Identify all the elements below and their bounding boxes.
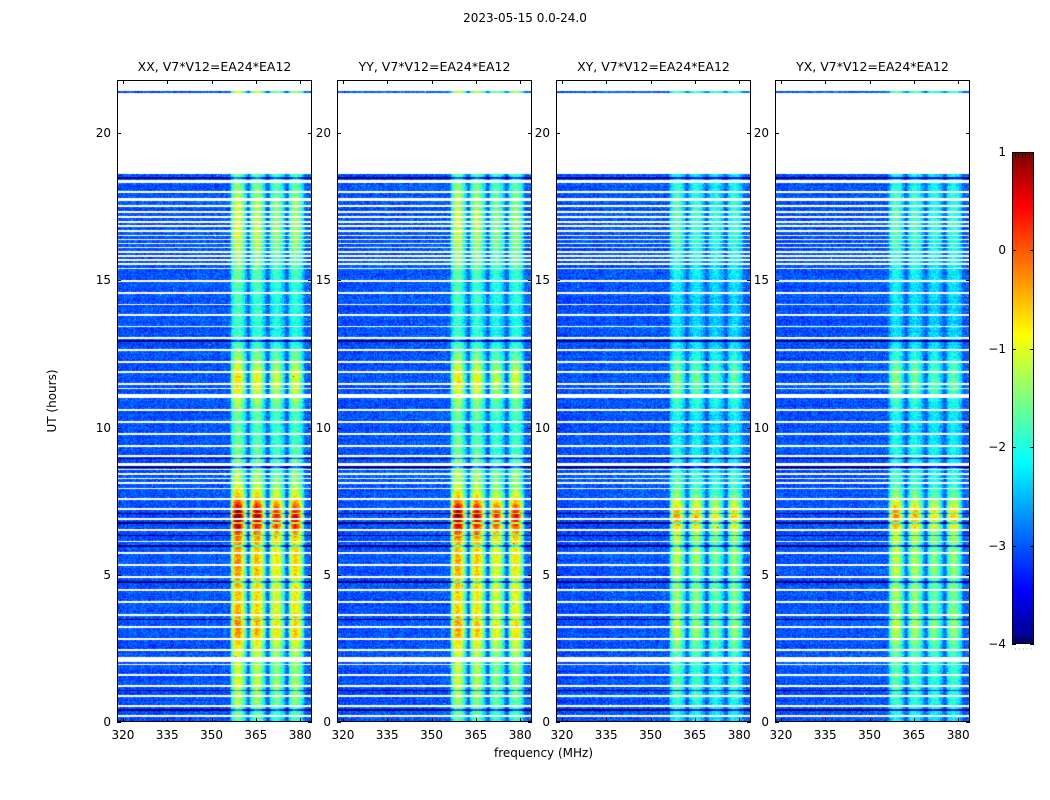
panel-title-yy: YY, V7*V12=EA24*EA12: [307, 59, 562, 74]
colorbar-tick-right-4: [1030, 546, 1034, 547]
xtick-yy-380: [520, 718, 521, 722]
xtick-top-yy-320: [343, 80, 344, 84]
ytick-right-xy-5: [747, 575, 751, 576]
ytick-right-yy-20: [528, 133, 532, 134]
ytick-right-yy-0: [528, 722, 532, 723]
ytick-right-xx-10: [308, 428, 312, 429]
xticklabel-yy-380: 380: [500, 728, 540, 742]
xtick-top-xy-380: [739, 80, 740, 84]
xtick-xy-335: [606, 718, 607, 722]
xticklabel-xx-350: 350: [192, 728, 232, 742]
xtick-yx-380: [958, 718, 959, 722]
panel-title-yx: YX, V7*V12=EA24*EA12: [745, 59, 1000, 74]
xtick-xx-320: [123, 718, 124, 722]
xtick-yy-320: [343, 718, 344, 722]
xtick-xx-335: [167, 718, 168, 722]
xticklabel-xx-320: 320: [103, 728, 143, 742]
xtick-xy-380: [739, 718, 740, 722]
xtick-yx-365: [914, 718, 915, 722]
heatmap-panel-xy: XY, V7*V12=EA24*EA12: [556, 80, 751, 722]
yticklabel-xx-15: 15: [71, 273, 111, 287]
ytick-right-yx-5: [966, 575, 970, 576]
yticklabel-xx-10: 10: [71, 421, 111, 435]
colorbar-tick-right-0: [1030, 152, 1034, 153]
xtick-top-yy-380: [520, 80, 521, 84]
ytick-xx-15: [117, 280, 121, 281]
xtick-top-yy-350: [432, 80, 433, 84]
ytick-xy-10: [556, 428, 560, 429]
colorbar-tick-1: [1012, 250, 1016, 251]
heatmap-panel-yy: YY, V7*V12=EA24*EA12: [337, 80, 532, 722]
xtick-top-yx-365: [914, 80, 915, 84]
dynamic-spectrum-image-xy: [556, 80, 751, 722]
yticklabel-xx-0: 0: [71, 715, 111, 729]
figure-canvas: 2023-05-15 0.0-24.0 XX, V7*V12=EA24*EA12…: [0, 0, 1050, 800]
xtick-xy-320: [562, 718, 563, 722]
xtick-xx-380: [300, 718, 301, 722]
colorbar-tick-right-5: [1030, 644, 1034, 645]
figure-suptitle: 2023-05-15 0.0-24.0: [0, 11, 1050, 25]
colorbar-tick-4: [1012, 546, 1016, 547]
ytick-right-yx-15: [966, 280, 970, 281]
xtick-top-xy-320: [562, 80, 563, 84]
xtick-top-xx-380: [300, 80, 301, 84]
yticklabel-xx-20: 20: [71, 126, 111, 140]
xtick-yx-320: [781, 718, 782, 722]
xtick-top-yx-320: [781, 80, 782, 84]
ytick-right-xx-0: [308, 722, 312, 723]
xtick-top-xx-365: [256, 80, 257, 84]
xtick-top-xx-320: [123, 80, 124, 84]
colorbar-tick-3: [1012, 447, 1016, 448]
ytick-right-xy-10: [747, 428, 751, 429]
colorbar-extend-hatch: [1015, 154, 1031, 159]
xticklabel-xx-380: 380: [280, 728, 320, 742]
ytick-right-xx-20: [308, 133, 312, 134]
yticklabel-xx-5: 5: [71, 568, 111, 582]
xtick-top-yx-335: [825, 80, 826, 84]
colorbar-tick-0: [1012, 152, 1016, 153]
colorbar-tick-right-1: [1030, 250, 1034, 251]
xticklabel-yy-320: 320: [323, 728, 363, 742]
panel-title-xx: XX, V7*V12=EA24*EA12: [87, 59, 342, 74]
ytick-xx-5: [117, 575, 121, 576]
dynamic-spectrum-image-yx: [775, 80, 970, 722]
ytick-xx-0: [117, 722, 121, 723]
ytick-right-xx-15: [308, 280, 312, 281]
heatmap-panel-yx: YX, V7*V12=EA24*EA12: [775, 80, 970, 722]
xticklabel-xx-335: 335: [147, 728, 187, 742]
ytick-yy-5: [337, 575, 341, 576]
ytick-xx-10: [117, 428, 121, 429]
xtick-top-xx-350: [212, 80, 213, 84]
xtick-top-yx-380: [958, 80, 959, 84]
colorbar-tick-right-2: [1030, 349, 1034, 350]
ytick-xy-5: [556, 575, 560, 576]
colorbar: [1012, 152, 1034, 644]
xticklabel-yy-350: 350: [412, 728, 452, 742]
ytick-yy-15: [337, 280, 341, 281]
colorbar-tick-2: [1012, 349, 1016, 350]
xticklabel-yy-335: 335: [367, 728, 407, 742]
xticklabel-xy-350: 350: [631, 728, 671, 742]
ytick-right-xy-0: [747, 722, 751, 723]
dynamic-spectrum-image-xx: [117, 80, 312, 722]
ytick-yx-20: [775, 133, 779, 134]
ytick-right-yy-10: [528, 428, 532, 429]
xticklabel-yx-350: 350: [850, 728, 890, 742]
ytick-right-yy-5: [528, 575, 532, 576]
ytick-right-xx-5: [308, 575, 312, 576]
ytick-yx-5: [775, 575, 779, 576]
ytick-right-yx-10: [966, 428, 970, 429]
ytick-xy-0: [556, 722, 560, 723]
ytick-xx-20: [117, 133, 121, 134]
panel-title-xy: XY, V7*V12=EA24*EA12: [526, 59, 781, 74]
xtick-yx-335: [825, 718, 826, 722]
xticklabel-xy-365: 365: [675, 728, 715, 742]
ytick-xy-15: [556, 280, 560, 281]
ytick-right-yy-15: [528, 280, 532, 281]
xticklabel-yx-320: 320: [761, 728, 801, 742]
xticklabel-yx-365: 365: [894, 728, 934, 742]
xtick-top-xy-365: [695, 80, 696, 84]
ytick-xy-20: [556, 133, 560, 134]
colorbar-under-marker: ·····: [1014, 645, 1033, 655]
xtick-top-xy-350: [651, 80, 652, 84]
xtick-top-yy-335: [387, 80, 388, 84]
y-axis-label: UT (hours): [45, 80, 59, 722]
xticklabel-yx-335: 335: [805, 728, 845, 742]
xticklabel-yy-365: 365: [456, 728, 496, 742]
xtick-yy-335: [387, 718, 388, 722]
ytick-right-yx-0: [966, 722, 970, 723]
colorbar-tick-5: [1012, 644, 1016, 645]
xtick-yy-350: [432, 718, 433, 722]
ytick-yx-0: [775, 722, 779, 723]
xtick-top-xx-335: [167, 80, 168, 84]
colorbar-frame: [1012, 152, 1034, 644]
ytick-yy-0: [337, 722, 341, 723]
xticklabel-xy-380: 380: [719, 728, 759, 742]
xtick-xx-350: [212, 718, 213, 722]
xtick-top-yx-350: [870, 80, 871, 84]
ytick-right-xy-20: [747, 133, 751, 134]
xtick-xy-350: [651, 718, 652, 722]
xtick-yy-365: [476, 718, 477, 722]
xticklabel-xx-365: 365: [236, 728, 276, 742]
xticklabel-xy-320: 320: [542, 728, 582, 742]
colorbar-tick-right-3: [1030, 447, 1034, 448]
xtick-xy-365: [695, 718, 696, 722]
ytick-yx-10: [775, 428, 779, 429]
dynamic-spectrum-image-yy: [337, 80, 532, 722]
ytick-yy-20: [337, 133, 341, 134]
ytick-right-xy-15: [747, 280, 751, 281]
x-axis-label: frequency (MHz): [117, 746, 970, 760]
ytick-yx-15: [775, 280, 779, 281]
xticklabel-xy-335: 335: [586, 728, 626, 742]
colorbar-extend-hatch: [1015, 638, 1031, 643]
xticklabel-yx-380: 380: [938, 728, 978, 742]
ytick-yy-10: [337, 428, 341, 429]
heatmap-panel-xx: XX, V7*V12=EA24*EA12: [117, 80, 312, 722]
xtick-top-yy-365: [476, 80, 477, 84]
xtick-xx-365: [256, 718, 257, 722]
xtick-yx-350: [870, 718, 871, 722]
xtick-top-xy-335: [606, 80, 607, 84]
ytick-right-yx-20: [966, 133, 970, 134]
